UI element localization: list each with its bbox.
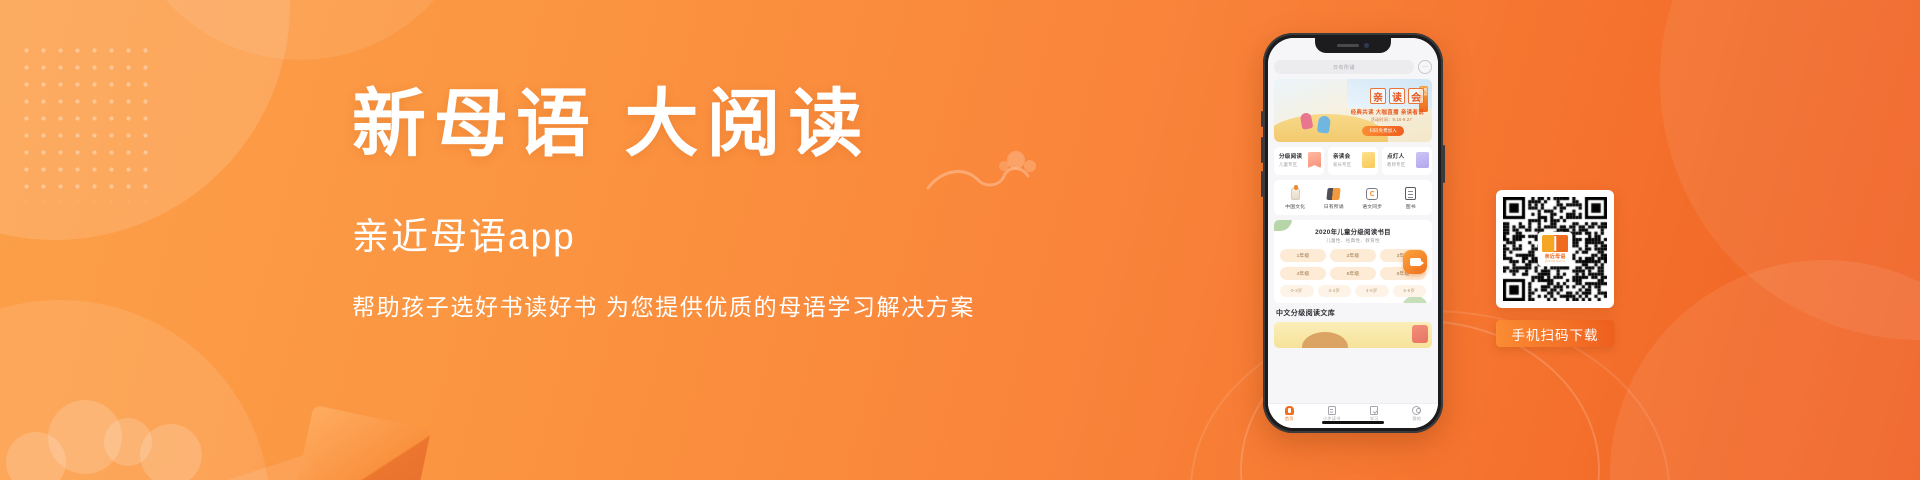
search-input[interactable]: 日有所诵 [1274,60,1414,74]
quick-link-library[interactable]: 图书 [1392,186,1431,210]
quick-link-culture[interactable]: 中国文化 [1276,186,1315,210]
speaker-grille-icon [1337,44,1359,47]
app-screen: 日有所诵 ··· 经典共读 亲 读 会 经典共读 大 [1268,38,1438,428]
tab-reading[interactable]: 小步读书 [1311,405,1354,422]
cloud-decoration-1 [6,432,66,480]
grade-pill[interactable]: 2年级 [1330,249,1376,262]
qr-logo-subtitle: QINJIN MUYU [1545,260,1565,263]
background-circle-bottom-left [0,300,270,480]
book-icon [1311,405,1354,415]
library-icon [1392,186,1431,201]
culture-icon [1276,186,1315,201]
study-icon [1353,405,1396,415]
bottom-tab-bar: 首页 小步读书 学习 我的 [1268,403,1438,428]
library-arc-decoration [1302,332,1348,348]
download-button[interactable]: 手机扫码下载 [1496,320,1614,347]
tab-label: 我的 [1396,416,1439,422]
phone-notch [1315,38,1391,53]
hero-title-char-2: 读 [1389,88,1405,104]
background-circle-bottom-right [1610,260,1920,480]
library-banner[interactable] [1274,322,1432,348]
qr-code[interactable]: 亲近母语 QINJIN MUYU [1496,190,1614,308]
grade-pill[interactable]: 1年级 [1280,249,1326,262]
banner-tagline: 帮助孩子选好书读好书 为您提供优质的母语学习解决方案 [352,288,1052,322]
banner-headline: 新母语 大阅读 [352,86,1052,164]
grade-pill[interactable]: 4年级 [1280,267,1326,280]
age-pill[interactable]: 3-4岁 [1318,285,1352,297]
grade-section-title: 2020年儿童分级阅读书目 [1280,227,1426,236]
banner-copy: 新母语 大阅读 亲近母语app 帮助孩子选好书读好书 为您提供优质的母语学习解决… [352,86,1052,322]
quick-link-label: 图书 [1392,203,1431,210]
phone-volume-down-button [1261,171,1263,197]
category-cards: 分级阅读 儿童专区 亲读会 家长专区 点灯人 教师专区 [1274,147,1432,175]
person-icon [1416,152,1429,168]
category-card-graded-reading[interactable]: 分级阅读 儿童专区 [1274,147,1324,175]
cloud-decoration-3 [104,418,152,466]
hero-title-char-3: 会 [1408,88,1424,104]
background-circle-top-left [0,0,290,240]
background-cube-decoration [289,405,431,480]
video-play-icon[interactable] [1403,250,1427,274]
background-circle-top-left-2 [120,0,480,60]
profile-icon [1396,405,1439,415]
phone-volume-up-button [1261,137,1263,163]
grade-pill[interactable]: 5年级 [1330,267,1376,280]
quick-link-label: 日有所诵 [1315,203,1354,210]
cloud-decoration-4 [140,424,202,480]
background-circle-top-right [1660,0,1920,340]
age-pill[interactable]: 4-5岁 [1355,285,1389,297]
category-card-teacher[interactable]: 点灯人 教师专区 [1382,147,1432,175]
hero-join-button[interactable]: 扫码免费加入 [1362,126,1404,136]
age-pill[interactable]: 0-3岁 [1280,285,1314,297]
background-square-decoration [220,454,336,480]
hero-child-1 [1300,113,1314,131]
app-search-row: 日有所诵 ··· [1274,60,1432,74]
tab-study[interactable]: 学习 [1353,405,1396,422]
quick-links-row: 中国文化 日有所诵 语文同步 图书 [1274,180,1432,215]
quick-link-label: 中国文化 [1276,203,1315,210]
banner-subline: 亲近母语app [352,206,1052,260]
quick-link-sync[interactable]: 语文同步 [1353,186,1392,210]
phone-screen-frame: 日有所诵 ··· 经典共读 亲 读 会 经典共读 大 [1268,38,1438,428]
hero-date: 活动时间：9.16-9.27 [1371,117,1412,123]
hero-title-char-1: 亲 [1370,88,1386,104]
promo-banner: 新母语 大阅读 亲近母语app 帮助孩子选好书读好书 为您提供优质的母语学习解决… [0,0,1920,480]
note-icon [1362,152,1375,168]
phone-mockup: 日有所诵 ··· 经典共读 亲 读 会 经典共读 大 [1263,33,1443,433]
dot-grid-decoration [18,42,150,202]
sync-icon [1353,186,1392,201]
book-logo-icon [1542,235,1568,252]
library-section-title: 中文分级阅读文库 [1276,308,1432,318]
tab-label: 首页 [1268,416,1311,422]
cloud-decoration-2 [48,400,122,474]
age-pill[interactable]: 5-6岁 [1393,285,1427,297]
grade-booklist-section: 2020年儿童分级阅读书目 儿童性、经典性、教育性 1年级 2年级 3年级 4年… [1274,220,1432,303]
phone-power-button [1443,145,1445,183]
quick-link-recite[interactable]: 日有所诵 [1315,186,1354,210]
message-icon[interactable]: ··· [1418,60,1432,74]
front-camera-icon [1364,43,1369,48]
hero-subtitle: 经典共读 大咖直播 亲读者说 [1351,108,1424,116]
recite-book-icon [1315,186,1354,201]
qr-center-logo: 亲近母语 QINJIN MUYU [1538,232,1572,266]
hero-banner[interactable]: 经典共读 亲 读 会 经典共读 大咖直播 亲读者说 活动时间：9.16-9.27… [1274,79,1432,142]
home-indicator [1322,421,1384,424]
category-card-parent-club[interactable]: 亲读会 家长专区 [1328,147,1378,175]
tab-home[interactable]: 首页 [1268,405,1311,422]
tab-profile[interactable]: 我的 [1396,405,1439,422]
phone-mute-switch [1261,111,1263,127]
age-row: 0-3岁 3-4岁 4-5岁 5-6岁 [1280,285,1426,297]
grade-section-subtitle: 儿童性、经典性、教育性 [1280,238,1426,244]
quick-link-label: 语文同步 [1353,203,1392,210]
hero-title: 亲 读 会 [1370,88,1424,104]
leaf-decoration-bottom [1402,296,1428,303]
qr-logo-name: 亲近母语 [1545,253,1566,260]
home-icon [1268,405,1311,415]
qr-download-block: 亲近母语 QINJIN MUYU 手机扫码下载 [1496,190,1646,347]
library-book-decoration [1412,325,1428,343]
